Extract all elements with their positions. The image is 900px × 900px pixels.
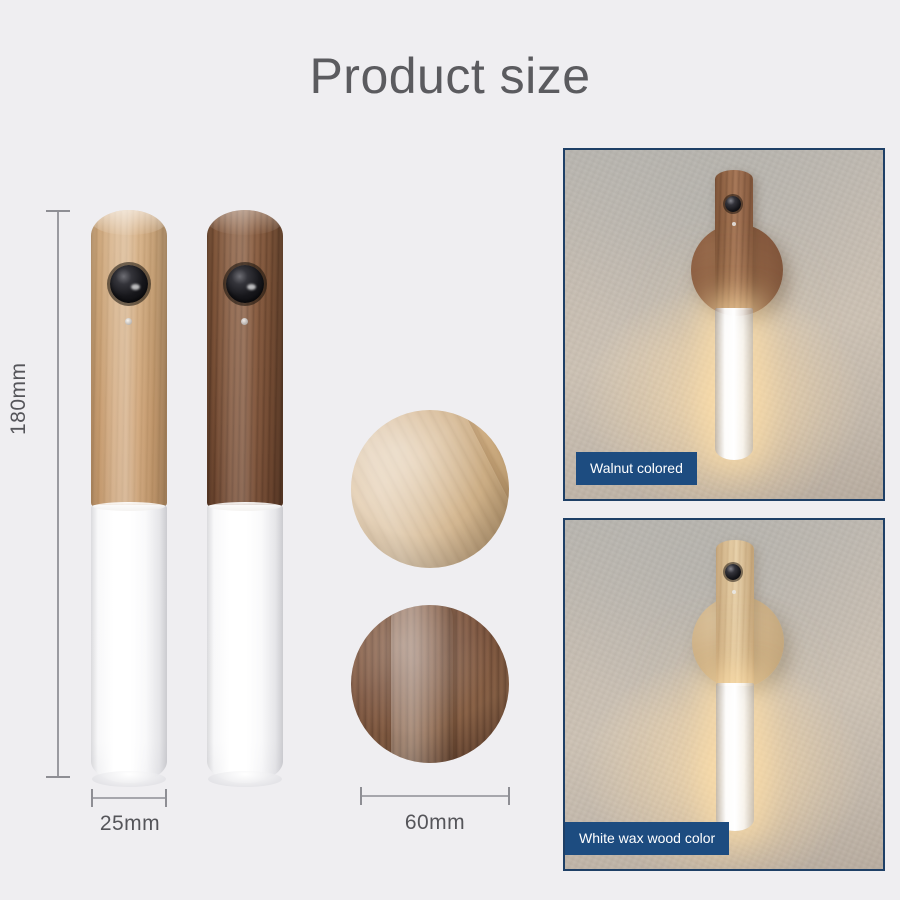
motion-sensor-icon	[226, 265, 264, 303]
walnut-mount-disc	[351, 605, 509, 763]
stick-wood-section	[91, 210, 167, 507]
stick-top-cap	[208, 210, 282, 235]
mounted-stick-wood	[716, 540, 754, 686]
disc-width-dimension-line	[360, 795, 510, 797]
disc-width-tick-left	[360, 787, 362, 805]
product-stick-white-wax-wood	[91, 210, 167, 783]
stick-wood-section	[207, 210, 283, 507]
product-stick-walnut	[207, 210, 283, 783]
photo-badge-walnut: Walnut colored	[576, 452, 697, 485]
mounted-stick-wood	[715, 170, 753, 310]
disc-shading	[351, 410, 509, 568]
motion-sensor-icon	[725, 564, 741, 580]
led-indicator-icon	[732, 222, 736, 226]
led-indicator-icon	[125, 318, 132, 325]
disc-width-tick-right	[508, 787, 510, 805]
motion-sensor-icon	[725, 196, 741, 212]
photo-white-wax-wood-color: White wax wood color	[563, 518, 885, 871]
mounted-stick-diffuser-lit	[716, 683, 754, 831]
height-dimension-tick-bottom	[46, 776, 70, 778]
product-size-infographic: Product size 180mm 25mm	[0, 0, 900, 900]
led-indicator-icon	[732, 590, 736, 594]
height-dimension-label: 180mm	[7, 362, 31, 435]
motion-sensor-icon	[110, 265, 148, 303]
body-width-dimension-line	[91, 797, 167, 799]
stick-diffuser-section	[91, 505, 167, 783]
body-width-tick-left	[91, 789, 93, 807]
led-indicator-icon	[241, 318, 248, 325]
mounted-stick-diffuser-lit	[715, 308, 753, 460]
stick-top-cap	[92, 210, 166, 235]
page-title: Product size	[0, 47, 900, 105]
light-wood-mount-disc	[351, 410, 509, 568]
height-dimension-line	[57, 210, 59, 778]
body-width-dimension-label: 25mm	[55, 812, 205, 836]
disc-width-dimension-label: 60mm	[360, 811, 510, 835]
body-width-tick-right	[165, 789, 167, 807]
height-dimension-tick-top	[46, 210, 70, 212]
photo-badge-white-wax: White wax wood color	[565, 822, 729, 855]
photo-walnut-colored: Walnut colored	[563, 148, 885, 501]
disc-shading	[351, 605, 509, 763]
stick-diffuser-section	[207, 505, 283, 783]
